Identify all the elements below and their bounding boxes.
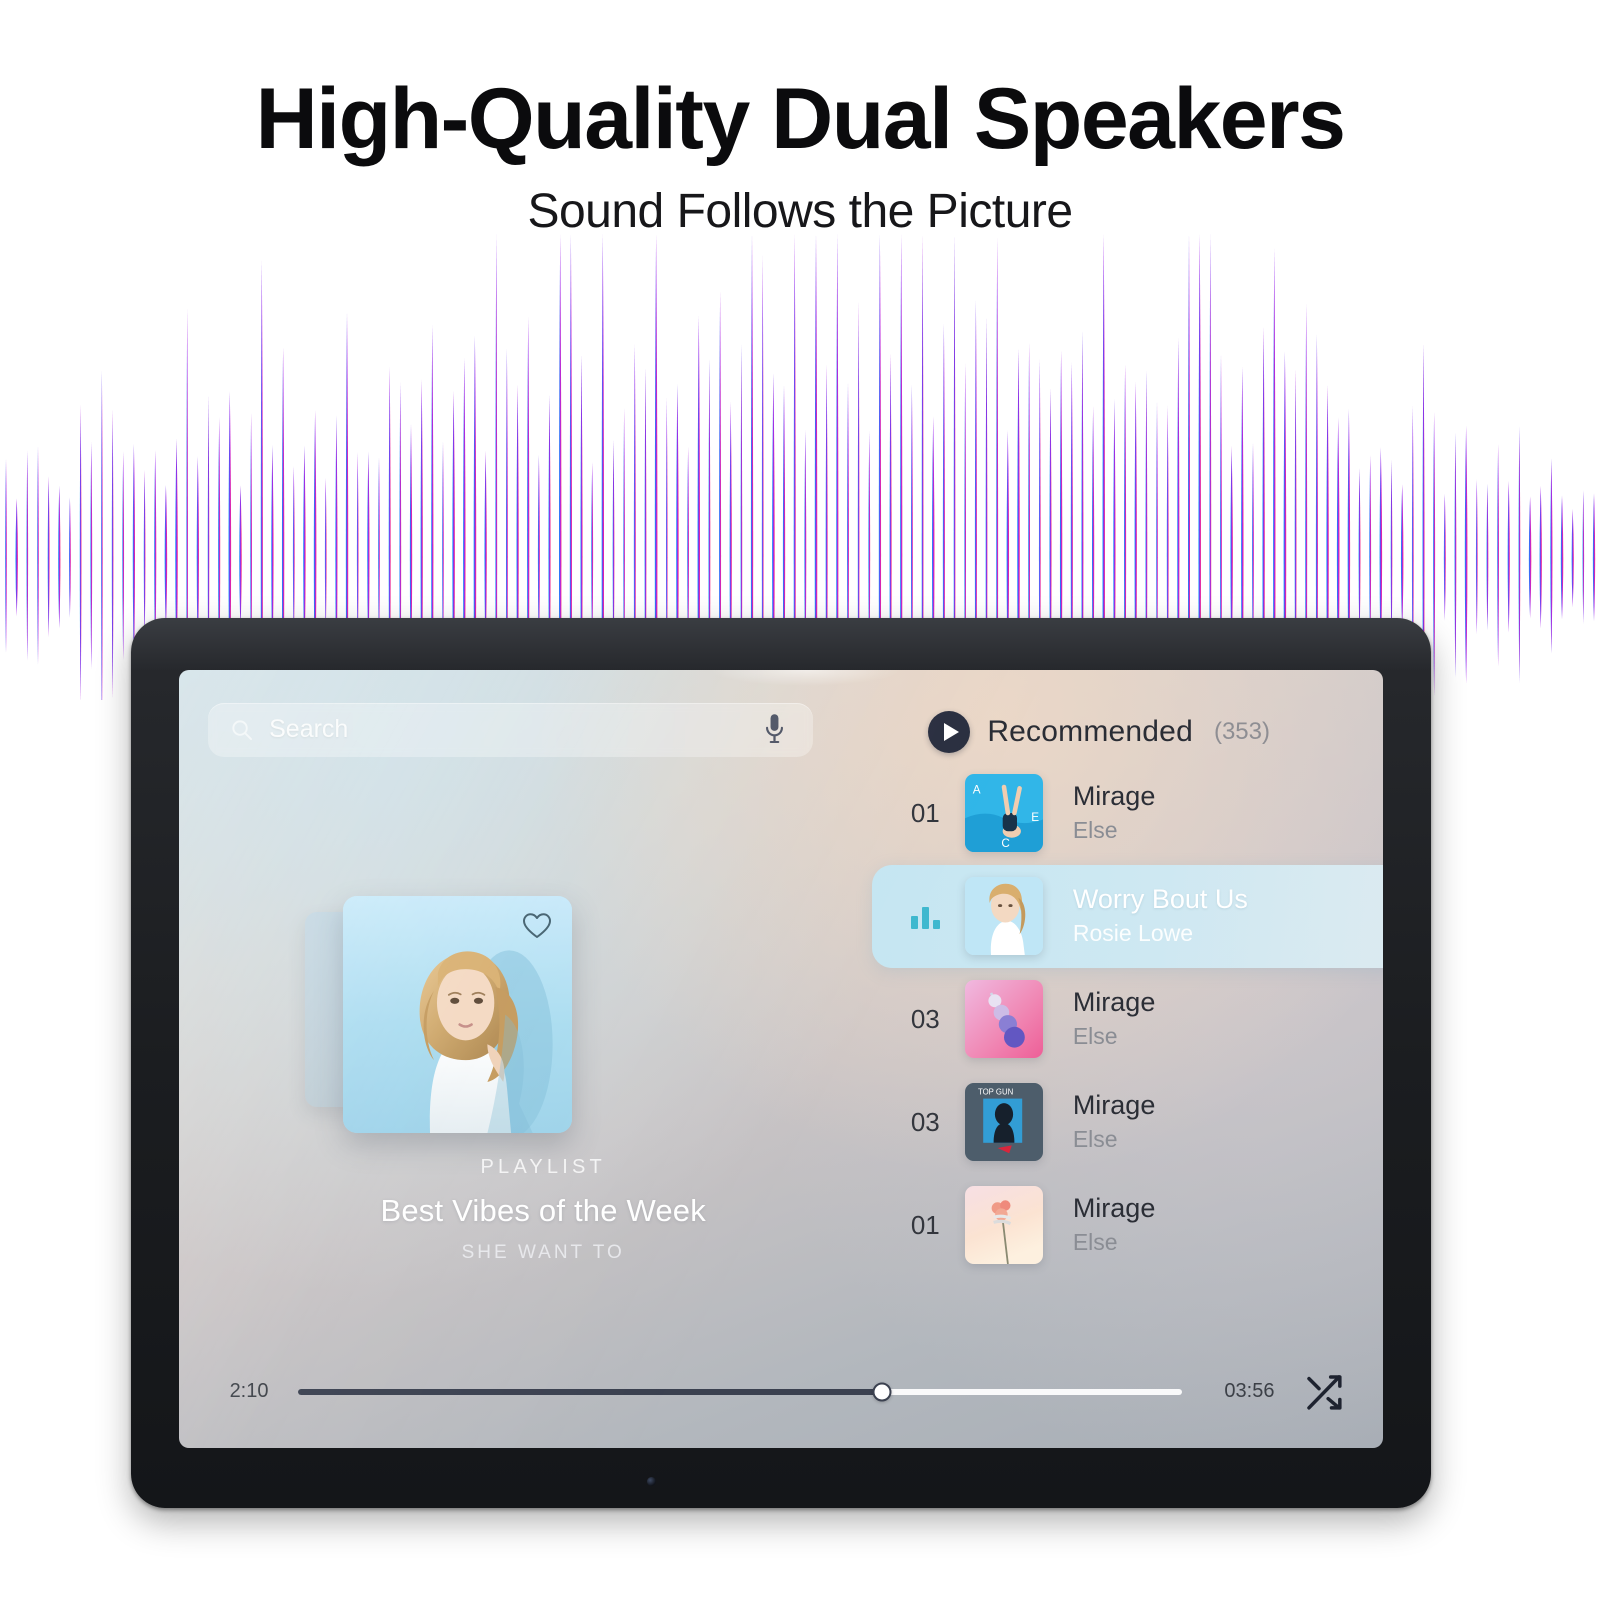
track-artist: Else xyxy=(1073,816,1156,846)
track-cover-art xyxy=(965,1186,1043,1264)
track-cover-art: AEC xyxy=(965,774,1043,852)
search-icon xyxy=(230,718,253,741)
track-meta: MirageElse xyxy=(1073,780,1156,846)
track-artist: Else xyxy=(1073,1022,1156,1052)
track-row[interactable]: 01MirageElse xyxy=(883,1174,1383,1277)
track-meta: MirageElse xyxy=(1073,1089,1156,1155)
track-title: Mirage xyxy=(1073,1192,1156,1225)
track-list: 01AECMirageElseWorry Bout UsRosie Lowe03… xyxy=(883,762,1383,1277)
recommended-panel: Recommended (353) 01AECMirageElseWorry B… xyxy=(883,670,1383,1448)
track-index: 03 xyxy=(911,1004,965,1035)
track-meta: MirageElse xyxy=(1073,1192,1156,1258)
track-row[interactable]: 01AECMirageElse xyxy=(883,762,1383,865)
track-cover-art xyxy=(965,980,1043,1058)
playlist-title: Best Vibes of the Week xyxy=(179,1193,907,1229)
track-title: Mirage xyxy=(1073,780,1156,813)
microphone-icon[interactable] xyxy=(764,713,785,747)
recommended-label: Recommended xyxy=(987,715,1193,749)
playlist-subtitle: SHE WANT TO xyxy=(179,1242,907,1264)
page-subtitle: Sound Follows the Picture xyxy=(0,184,1600,239)
track-title: Worry Bout Us xyxy=(1073,883,1248,916)
track-row[interactable]: Worry Bout UsRosie Lowe xyxy=(872,865,1383,968)
front-camera-dot xyxy=(647,1477,656,1486)
album-art[interactable] xyxy=(343,896,572,1133)
track-title: Mirage xyxy=(1073,1089,1156,1122)
track-title: Mirage xyxy=(1073,986,1156,1019)
headline-block: High-Quality Dual Speakers Sound Follows… xyxy=(0,0,1600,239)
track-row[interactable]: 03TOP GUNMirageElse xyxy=(883,1071,1383,1174)
svg-text:TOP GUN: TOP GUN xyxy=(978,1088,1013,1097)
track-artist: Else xyxy=(1073,1125,1156,1155)
play-icon[interactable] xyxy=(928,711,970,753)
progress-fill xyxy=(298,1389,882,1395)
album-art-container[interactable] xyxy=(343,896,572,1133)
shuffle-icon[interactable] xyxy=(1304,1372,1344,1412)
progress-slider[interactable] xyxy=(298,1389,1183,1395)
track-cover-art: TOP GUN xyxy=(965,1083,1043,1161)
search-bar[interactable] xyxy=(208,703,813,757)
track-artist: Rosie Lowe xyxy=(1073,919,1248,949)
total-time-label: 03:56 xyxy=(1204,1380,1274,1403)
track-index: 01 xyxy=(911,1210,965,1241)
svg-text:C: C xyxy=(1001,837,1009,850)
track-index: 01 xyxy=(911,798,965,829)
now-playing-panel: PLAYLIST Best Vibes of the Week SHE WANT… xyxy=(179,670,907,1448)
svg-text:A: A xyxy=(973,784,981,797)
track-cover-art xyxy=(965,877,1043,955)
heart-icon[interactable] xyxy=(522,912,552,940)
svg-text:E: E xyxy=(1031,811,1039,824)
track-artist: Else xyxy=(1073,1228,1156,1258)
recommended-count: (353) xyxy=(1214,718,1270,746)
tablet-device: PLAYLIST Best Vibes of the Week SHE WANT… xyxy=(131,618,1431,1508)
track-meta: Worry Bout UsRosie Lowe xyxy=(1073,883,1248,949)
track-row[interactable]: 03MirageElse xyxy=(883,968,1383,1071)
tablet-screen: PLAYLIST Best Vibes of the Week SHE WANT… xyxy=(179,670,1383,1448)
equalizer-playing-icon xyxy=(911,903,965,929)
page-title: High-Quality Dual Speakers xyxy=(0,76,1600,162)
player-progress-bar: 2:10 03:56 xyxy=(179,1370,1383,1414)
track-index: 03 xyxy=(911,1107,965,1138)
recommended-header[interactable]: Recommended (353) xyxy=(928,711,1270,753)
current-time-label: 2:10 xyxy=(230,1380,288,1403)
playlist-kicker: PLAYLIST xyxy=(179,1156,907,1179)
playlist-meta: PLAYLIST Best Vibes of the Week SHE WANT… xyxy=(179,1156,907,1264)
track-meta: MirageElse xyxy=(1073,986,1156,1052)
progress-knob[interactable] xyxy=(872,1382,891,1401)
search-input[interactable] xyxy=(269,715,764,744)
